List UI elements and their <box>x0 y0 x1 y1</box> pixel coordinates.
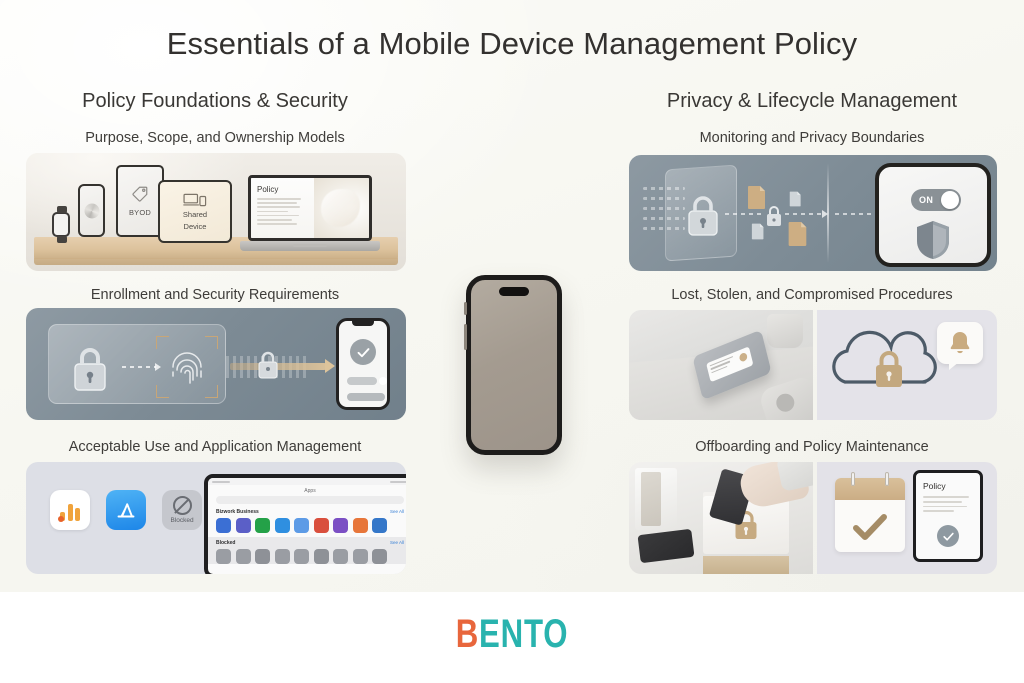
app-tile-blocked[interactable] <box>236 549 251 564</box>
app-tile-blocked[interactable] <box>294 549 309 564</box>
flow-dash-3-icon <box>835 213 877 215</box>
policy-text-line <box>923 501 962 503</box>
device-return-photo-panel <box>629 462 813 574</box>
shield-icon <box>915 219 951 261</box>
app-tile[interactable] <box>275 518 290 533</box>
blocked-app-grid <box>216 549 404 564</box>
caption-monitoring-privacy: Monitoring and Privacy Boundaries <box>627 130 997 146</box>
document-file-icon <box>787 221 809 247</box>
image-lost-stolen-procedures <box>629 310 997 420</box>
center-phone-device <box>466 275 562 455</box>
toggle-label: ON <box>919 195 933 205</box>
phone-mute-button[interactable] <box>464 302 467 315</box>
app-tile[interactable] <box>372 518 387 533</box>
analytics-dot-icon <box>58 516 64 522</box>
cup-object <box>767 314 803 348</box>
caption-enrollment-security: Enrollment and Security Requirements <box>24 287 406 303</box>
tablet-policy-document: Policy <box>913 470 983 562</box>
image-offboarding-maintenance: Policy <box>629 462 997 574</box>
policy-text-line <box>257 223 297 225</box>
calendar-icon <box>835 478 905 552</box>
document-file-icon <box>747 185 767 210</box>
app-tile-blocked[interactable] <box>353 549 368 564</box>
policy-text-line <box>923 496 969 498</box>
policy-text-line <box>257 211 288 213</box>
small-padlock-icon <box>256 350 280 380</box>
phone-screen-glyph-icon <box>84 203 99 218</box>
action-bar <box>347 393 385 401</box>
progress-bar <box>347 377 377 385</box>
caption-purpose-scope-ownership: Purpose, Scope, and Ownership Models <box>24 130 406 146</box>
alert-bubble <box>937 322 983 364</box>
policy-document-title: Policy <box>257 185 308 194</box>
bell-icon <box>948 330 972 356</box>
left-column-heading: Policy Foundations & Security <box>24 90 406 113</box>
policy-maintenance-panel: Policy <box>817 462 997 574</box>
analytics-app-icon <box>50 490 90 530</box>
app-tile-blocked[interactable] <box>275 549 290 564</box>
flow-dash-2-icon <box>785 213 823 215</box>
storage-box-band <box>703 556 789 574</box>
policy-text-line <box>923 510 954 512</box>
lock-screen-notification <box>706 346 753 382</box>
padlock-icon <box>70 344 110 392</box>
blocked-apps-section: See All Blocked <box>208 537 406 564</box>
padlock-icon <box>873 350 905 388</box>
dynamic-island-icon <box>499 287 529 296</box>
catalog-header: Apps <box>208 485 406 496</box>
success-check-icon <box>350 339 376 365</box>
app-tile-blocked[interactable] <box>372 549 387 564</box>
logo-rest: ENTO <box>479 612 568 656</box>
app-tile[interactable] <box>255 518 270 533</box>
check-icon <box>851 512 889 542</box>
brand-logo: BENTO <box>113 612 912 657</box>
shared-device-label-line2: Device <box>184 223 207 231</box>
policy-text-line <box>257 219 292 221</box>
tag-icon <box>131 185 149 203</box>
file-holder-object <box>635 468 677 530</box>
flow-arrow-1-icon <box>122 366 156 368</box>
laptop-phone-icon <box>183 192 207 208</box>
catalog-search-field[interactable] <box>216 496 404 504</box>
policy-text-line <box>257 206 300 208</box>
app-store-icon <box>106 490 146 530</box>
small-padlock-icon <box>765 205 783 227</box>
byod-label: BYOD <box>129 208 151 217</box>
progress-bar-fill <box>379 377 387 385</box>
app-tile-blocked[interactable] <box>333 549 348 564</box>
page-title: Essentials of a Mobile Device Management… <box>0 26 1024 62</box>
policy-text-line <box>257 198 301 200</box>
phone-volume-button[interactable] <box>464 324 467 350</box>
right-column-heading: Privacy & Lifecycle Management <box>627 90 997 113</box>
blocked-label: Blocked <box>170 517 193 524</box>
policy-approved-check-icon <box>937 525 959 547</box>
policy-text-line <box>923 506 967 508</box>
desk-photo-panel <box>629 310 813 420</box>
padlock-icon <box>685 193 721 237</box>
calendar-ring-icon <box>885 472 889 486</box>
smartwatch-icon <box>52 212 70 237</box>
image-enrollment-security <box>26 308 406 420</box>
privacy-toggle[interactable]: ON <box>911 189 961 211</box>
logo-first-letter: B <box>456 612 479 656</box>
see-all-link[interactable]: See All <box>390 540 404 545</box>
no-entry-icon <box>173 496 192 515</box>
phone-notch-icon <box>352 321 374 326</box>
notification-badge-icon <box>738 351 747 362</box>
blocked-apps-icon: Blocked <box>162 490 202 530</box>
app-tile[interactable] <box>216 518 231 533</box>
app-tile[interactable] <box>294 518 309 533</box>
document-file-icon <box>789 191 802 207</box>
laptop-with-policy-document: Policy <box>248 175 372 241</box>
tablet-app-catalog: Apps See All Bizwork Business See All <box>204 474 406 574</box>
policy-text-line <box>257 215 299 217</box>
shelf-edge <box>34 258 398 265</box>
shared-device-label-line1: Shared <box>183 211 207 219</box>
app-tile[interactable] <box>333 518 348 533</box>
app-tile-blocked[interactable] <box>255 549 270 564</box>
app-tile-blocked[interactable] <box>314 549 329 564</box>
toggle-knob[interactable] <box>941 191 959 209</box>
document-file-icon <box>751 223 765 240</box>
abstract-artwork <box>314 178 369 238</box>
calendar-header <box>835 478 905 500</box>
policy-text-line <box>257 202 297 204</box>
app-tile[interactable] <box>314 518 329 533</box>
laptop-base <box>240 241 380 251</box>
flow-dash-1-icon <box>725 213 765 215</box>
caption-offboarding: Offboarding and Policy Maintenance <box>627 439 997 455</box>
shared-device-tablet: Shared Device <box>158 180 232 243</box>
phone-enrollment-success <box>336 318 390 410</box>
app-tile[interactable] <box>236 518 251 533</box>
approved-app-grid <box>216 518 404 533</box>
caption-lost-stolen: Lost, Stolen, and Compromised Procedures <box>627 287 997 303</box>
tablet-on-desk <box>637 529 694 563</box>
app-tile[interactable] <box>353 518 368 533</box>
tablet-status-bar <box>208 478 406 485</box>
catalog-section-blocked: See All Blocked <box>216 540 404 546</box>
fingerprint-icon <box>164 344 210 390</box>
calendar-ring-icon <box>851 472 855 486</box>
privacy-boundary-divider <box>827 163 829 263</box>
policy-title: Policy <box>923 481 973 491</box>
caption-acceptable-use: Acceptable Use and Application Managemen… <box>24 439 406 455</box>
image-acceptable-use-apps: Blocked Apps See All Bizwork Business <box>26 462 406 574</box>
see-all-link[interactable]: See All <box>390 509 404 514</box>
policy-document-page: Policy <box>251 178 314 238</box>
phone-privacy-settings: ON <box>875 163 991 267</box>
app-tile-blocked[interactable] <box>216 549 231 564</box>
image-devices-on-shelf: BYOD Shared Device Policy <box>26 153 406 271</box>
smartphone-device <box>78 184 105 237</box>
byod-tablet: BYOD <box>116 165 164 237</box>
image-monitoring-privacy: ON <box>629 155 997 271</box>
poster-canvas: Essentials of a Mobile Device Management… <box>0 0 1024 683</box>
catalog-section-approved: See All Bizwork Business <box>216 509 404 515</box>
cloud-alert-panel <box>817 310 997 420</box>
